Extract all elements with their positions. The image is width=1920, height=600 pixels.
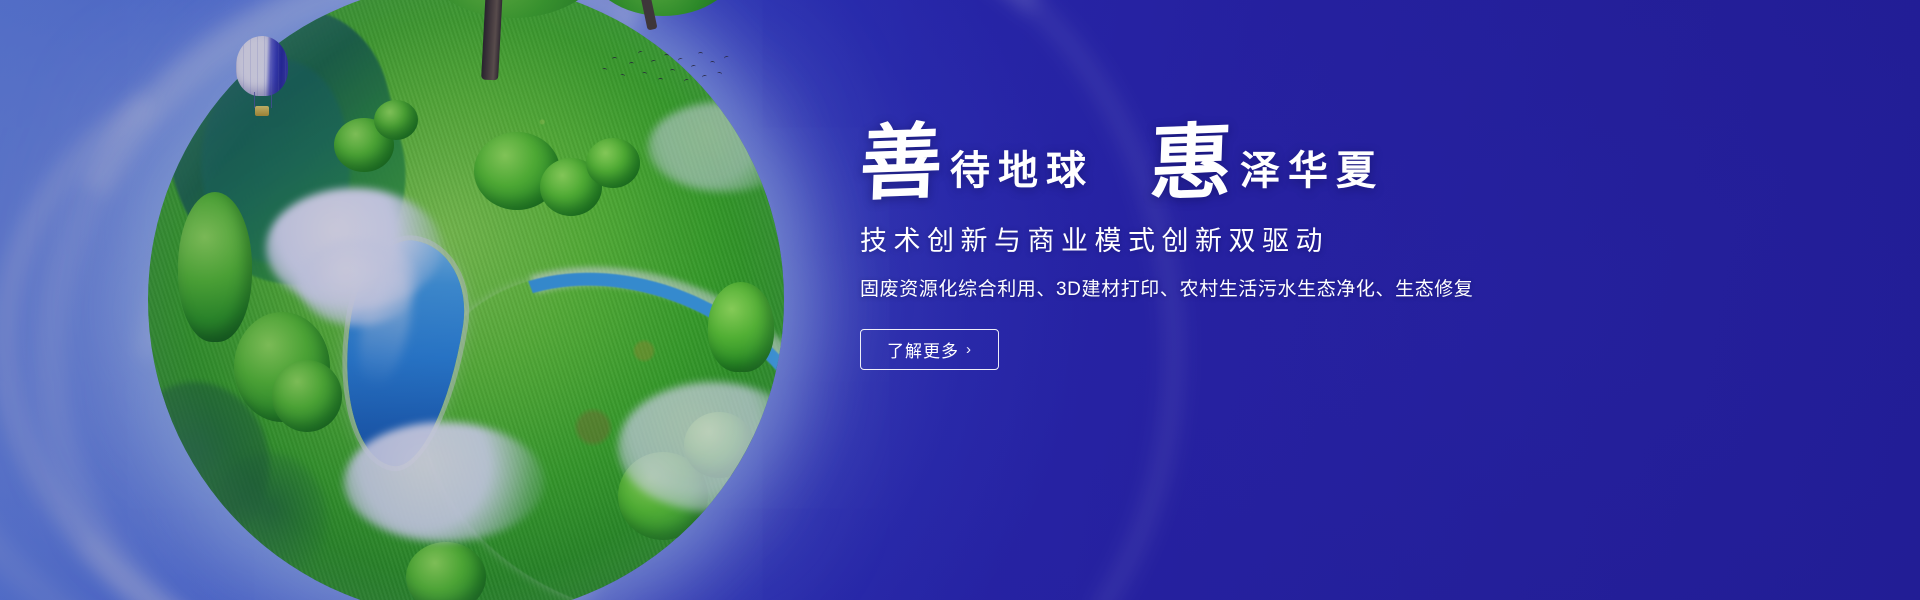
bird-icon — [684, 78, 690, 83]
learn-more-button[interactable]: 了解更多 › — [860, 329, 999, 370]
bird-icon — [629, 62, 634, 66]
learn-more-label: 了解更多 — [887, 337, 959, 362]
balloon-basket — [255, 106, 269, 116]
bird-icon — [670, 69, 675, 73]
tree-trunk — [636, 0, 657, 30]
headline-big-char-2: 惠 — [1149, 125, 1234, 203]
hero-content: 善 待地球 惠 泽华夏 技术创新与商业模式创新双驱动 固废资源化综合利用、3D建… — [860, 126, 1620, 370]
bird-icon — [698, 52, 703, 56]
hot-air-balloon-icon — [236, 36, 288, 120]
bird-icon — [710, 61, 715, 65]
headline-small-text-1: 待地球 — [942, 151, 1094, 201]
tree-icon — [334, 118, 394, 172]
bird-icon — [677, 57, 683, 62]
description: 固废资源化综合利用、3D建材打印、农村生活污水生态净化、生态修复 — [860, 274, 1620, 301]
tree-icon — [586, 138, 640, 188]
bird-icon — [620, 73, 626, 78]
tree-silhouette — [208, 452, 328, 592]
headline-part-1: 善 待地球 — [860, 126, 1094, 201]
bird-icon — [637, 50, 643, 55]
tree-icon — [474, 132, 560, 210]
bird-icon — [612, 57, 617, 61]
cloud-icon — [648, 102, 784, 192]
subtitle: 技术创新与商业模式创新双驱动 — [860, 219, 1620, 258]
headline-part-2: 惠 泽华夏 — [1150, 126, 1384, 201]
tree-icon — [374, 100, 418, 140]
tree-icon — [178, 192, 252, 342]
mountain-ridge — [148, 0, 429, 310]
cloud-icon — [266, 188, 442, 308]
cloud-icon — [344, 422, 544, 542]
tree-icon — [406, 542, 486, 600]
hero-banner: 善 待地球 惠 泽华夏 技术创新与商业模式创新双驱动 固废资源化综合利用、3D建… — [0, 0, 1920, 600]
tree-canopy-icon — [588, 0, 738, 16]
headline-big-char-1: 善 — [859, 125, 944, 203]
bird-icon — [651, 60, 657, 65]
tree-icon — [272, 360, 342, 432]
bird-icon — [642, 72, 648, 77]
bird-flock-icon — [598, 48, 728, 90]
tree-silhouette — [148, 382, 270, 552]
bird-icon — [602, 68, 608, 73]
headline-small-text-2: 泽华夏 — [1232, 151, 1384, 201]
bird-icon — [691, 65, 697, 70]
cloud-icon — [618, 382, 784, 512]
tree-icon — [540, 158, 602, 216]
tree-icon — [708, 282, 774, 372]
balloon-envelope — [236, 36, 288, 96]
tree-icon — [684, 412, 754, 478]
river-icon — [368, 209, 784, 600]
page-title: 善 待地球 惠 泽华夏 — [860, 126, 1620, 201]
tree-icon — [234, 312, 330, 422]
cloud-icon — [298, 240, 418, 326]
river-bank — [358, 200, 784, 600]
lake-highlight — [350, 265, 420, 392]
chevron-right-icon: › — [966, 341, 972, 358]
bird-icon — [658, 78, 663, 82]
bird-icon — [664, 54, 669, 58]
bird-icon — [717, 71, 723, 76]
bird-icon — [702, 75, 708, 80]
lake-icon — [329, 233, 475, 474]
tree-icon — [618, 452, 708, 540]
